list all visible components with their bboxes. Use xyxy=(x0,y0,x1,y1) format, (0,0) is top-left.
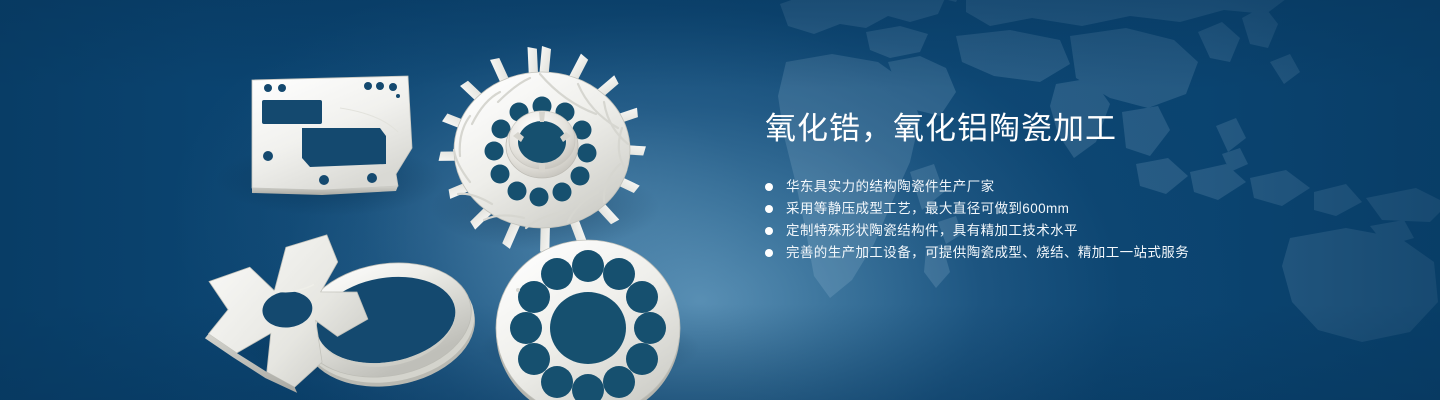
bullet-dot-icon xyxy=(765,227,773,235)
bullet-dot-icon xyxy=(765,249,773,257)
hero-banner: 氧化锆，氧化铝陶瓷加工 华东具实力的结构陶瓷件生产厂家 采用等静压成型工艺，最大… xyxy=(0,0,1440,400)
list-item-label: 定制特殊形状陶瓷结构件，具有精加工技术水平 xyxy=(786,223,1078,238)
list-item-label: 完善的生产加工设备，可提供陶瓷成型、烧结、精加工一站式服务 xyxy=(786,245,1189,260)
list-item: 采用等静压成型工艺，最大直径可做到600mm xyxy=(765,198,1405,220)
bullet-dot-icon xyxy=(765,205,773,213)
list-item: 完善的生产加工设备，可提供陶瓷成型、烧结、精加工一站式服务 xyxy=(765,242,1405,264)
list-item: 定制特殊形状陶瓷结构件，具有精加工技术水平 xyxy=(765,220,1405,242)
ceramic-plate-part xyxy=(252,76,412,195)
banner-feature-list: 华东具实力的结构陶瓷件生产厂家 采用等静压成型工艺，最大直径可做到600mm 定… xyxy=(765,176,1405,264)
banner-copy: 氧化锆，氧化铝陶瓷加工 华东具实力的结构陶瓷件生产厂家 采用等静压成型工艺，最大… xyxy=(765,108,1405,264)
ceramic-perforated-disc-part xyxy=(496,240,680,400)
bullet-dot-icon xyxy=(765,183,773,191)
list-item-label: 采用等静压成型工艺，最大直径可做到600mm xyxy=(786,201,1069,216)
list-item: 华东具实力的结构陶瓷件生产厂家 xyxy=(765,176,1405,198)
list-item-label: 华东具实力的结构陶瓷件生产厂家 xyxy=(786,179,995,194)
ceramic-products-photo xyxy=(190,28,710,378)
banner-headline: 氧化锆，氧化铝陶瓷加工 xyxy=(765,108,1405,150)
